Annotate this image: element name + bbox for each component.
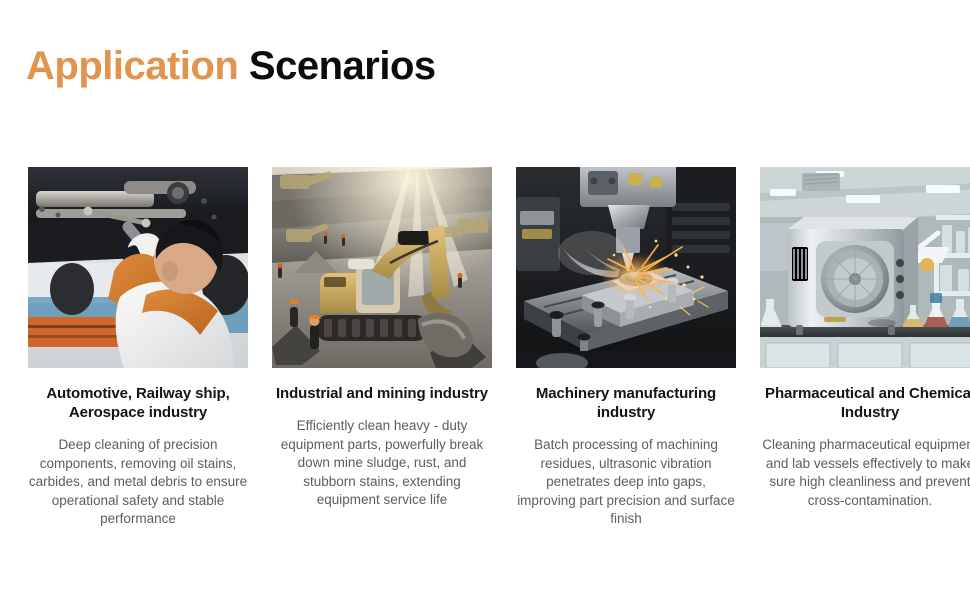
scenario-card-description: Deep cleaning of precision components, r… [28, 436, 248, 529]
scenario-card-title: Industrial and mining industry [272, 384, 492, 403]
scenario-card-description: Batch processing of machining residues, … [516, 436, 736, 529]
scenario-card: Industrial and mining industry Efficient… [272, 167, 492, 529]
scenario-card-title: Pharmaceutical and Chemical Industry [760, 384, 970, 422]
scenario-card: Pharmaceutical and Chemical Industry Cle… [760, 167, 970, 529]
scenario-card: Automotive, Railway ship, Aerospace indu… [28, 167, 248, 529]
page-title-accent: Application [26, 44, 238, 88]
scenario-card-list: Automotive, Railway ship, Aerospace indu… [28, 167, 944, 529]
scenario-card-title: Machinery manufacturing industry [516, 384, 736, 422]
automotive-undercarriage-mechanic-photo [28, 167, 248, 368]
application-scenarios-page: Application Scenarios [0, 0, 970, 600]
page-title-rest: Scenarios [249, 44, 436, 88]
laboratory-autoclave-sterilizer-photo [760, 167, 970, 368]
scenario-card-description: Efficiently clean heavy - duty equipment… [272, 417, 492, 510]
scenario-card-title: Automotive, Railway ship, Aerospace indu… [28, 384, 248, 422]
scenario-card-description: Cleaning pharmaceutical equipment and la… [760, 436, 970, 510]
mining-excavator-quarry-photo [272, 167, 492, 368]
cnc-milling-sparks-photo [516, 167, 736, 368]
page-title: Application Scenarios [26, 42, 436, 90]
scenario-card: Machinery manufacturing industry Batch p… [516, 167, 736, 529]
